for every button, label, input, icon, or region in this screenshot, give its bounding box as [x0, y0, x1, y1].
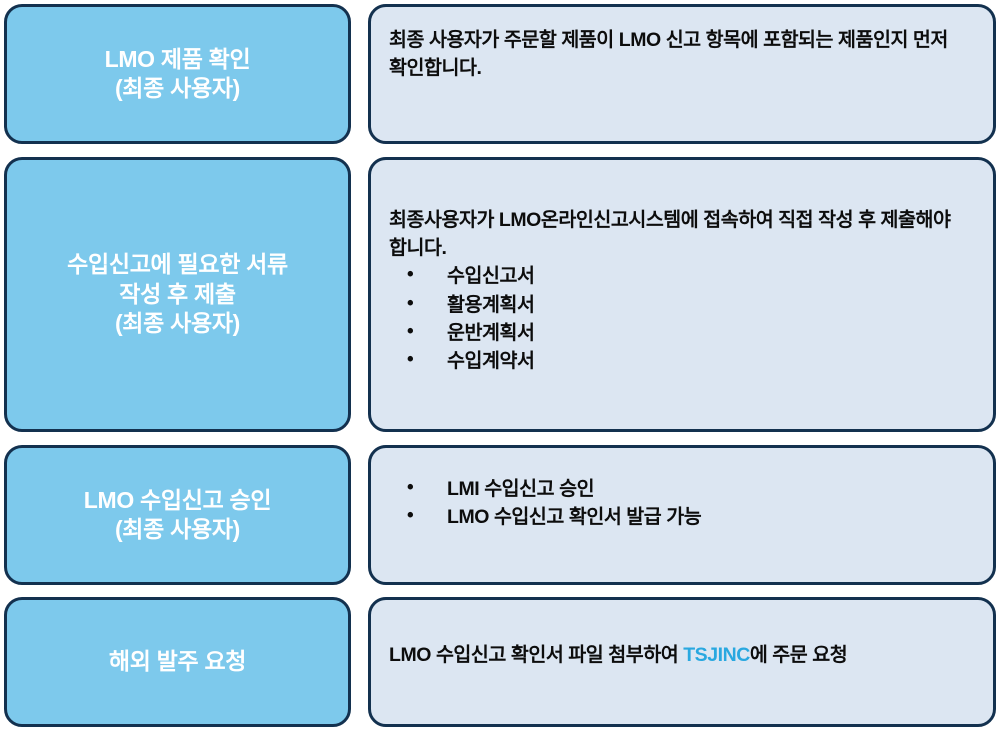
step-1-label-box: LMO 제품 확인 (최종 사용자) [4, 4, 351, 144]
step-3-approval-list: LMI 수입신고 승인 LMO 수입신고 확인서 발급 가능 [389, 475, 975, 532]
step-4-description-inner: LMO 수입신고 확인서 파일 첨부하여 TSJINC에 주문 요청 [371, 600, 993, 670]
list-item: LMI 수입신고 승인 [389, 475, 975, 503]
step-2-label-box: 수입신고에 필요한 서류 작성 후 제출 (최종 사용자) [4, 157, 351, 432]
list-item: LMO 수입신고 확인서 발급 가능 [389, 503, 975, 531]
step-2-label-text: 수입신고에 필요한 서류 작성 후 제출 (최종 사용자) [57, 250, 298, 338]
step-3-description-inner: LMI 수입신고 승인 LMO 수입신고 확인서 발급 가능 [371, 448, 993, 532]
step-2-paragraph: 최종사용자가 LMO온라인신고시스템에 접속하여 직접 작성 후 제출해야 합니… [389, 207, 975, 262]
step-4-company-name: TSJINC [683, 644, 750, 666]
process-step-row-2: 수입신고에 필요한 서류 작성 후 제출 (최종 사용자) 최종사용자가 LMO… [0, 157, 1000, 432]
list-item: 운반계획서 [389, 319, 975, 347]
step-4-paragraph-before: LMO 수입신고 확인서 파일 첨부하여 [389, 644, 683, 666]
step-4-description-box: LMO 수입신고 확인서 파일 첨부하여 TSJINC에 주문 요청 [368, 597, 996, 727]
process-step-row-3: LMO 수입신고 승인 (최종 사용자) LMI 수입신고 승인 LMO 수입신… [0, 445, 1000, 585]
step-2-description-inner: 최종사용자가 LMO온라인신고시스템에 접속하여 직접 작성 후 제출해야 합니… [371, 160, 993, 375]
step-1-label-text: LMO 제품 확인 (최종 사용자) [95, 45, 261, 104]
lmo-import-process-diagram: LMO 제품 확인 (최종 사용자) 최종 사용자가 주문할 제품이 LMO 신… [0, 0, 1000, 732]
step-2-document-list: 수입신고서 활용계획서 운반계획서 수입계약서 [389, 262, 975, 375]
step-4-paragraph: LMO 수입신고 확인서 파일 첨부하여 TSJINC에 주문 요청 [389, 642, 975, 670]
list-item: 수입신고서 [389, 262, 975, 290]
step-2-description-box: 최종사용자가 LMO온라인신고시스템에 접속하여 직접 작성 후 제출해야 합니… [368, 157, 996, 432]
step-3-description-box: LMI 수입신고 승인 LMO 수입신고 확인서 발급 가능 [368, 445, 996, 585]
process-step-row-4: 해외 발주 요청 LMO 수입신고 확인서 파일 첨부하여 TSJINC에 주문… [0, 597, 1000, 727]
process-step-row-1: LMO 제품 확인 (최종 사용자) 최종 사용자가 주문할 제품이 LMO 신… [0, 4, 1000, 144]
list-item: 활용계획서 [389, 291, 975, 319]
step-3-label-box: LMO 수입신고 승인 (최종 사용자) [4, 445, 351, 585]
step-4-paragraph-after: 에 주문 요청 [750, 644, 847, 666]
step-1-description-box: 최종 사용자가 주문할 제품이 LMO 신고 항목에 포함되는 제품인지 먼저 … [368, 4, 996, 144]
step-4-label-text: 해외 발주 요청 [99, 647, 256, 676]
step-3-label-text: LMO 수입신고 승인 (최종 사용자) [74, 486, 282, 545]
step-1-description-inner: 최종 사용자가 주문할 제품이 LMO 신고 항목에 포함되는 제품인지 먼저 … [371, 7, 993, 82]
step-1-paragraph: 최종 사용자가 주문할 제품이 LMO 신고 항목에 포함되는 제품인지 먼저 … [389, 27, 975, 82]
step-4-label-box: 해외 발주 요청 [4, 597, 351, 727]
list-item: 수입계약서 [389, 347, 975, 375]
